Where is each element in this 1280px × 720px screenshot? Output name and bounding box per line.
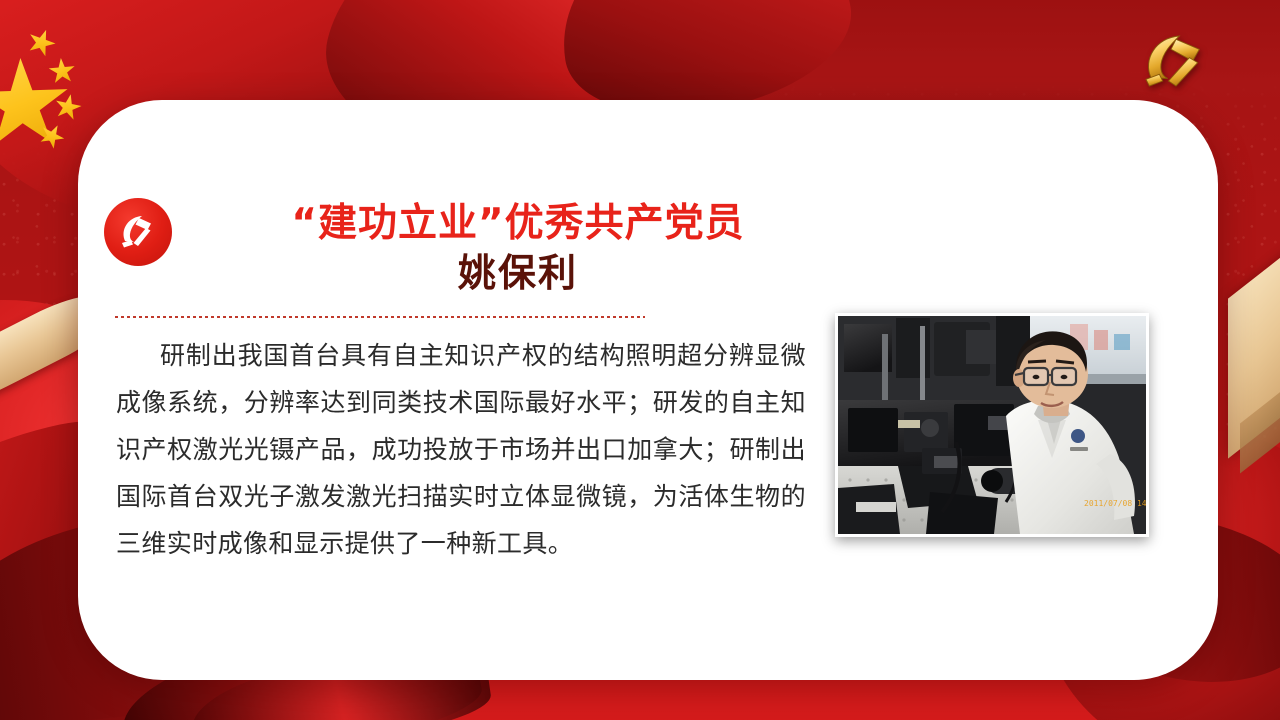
body-paragraph: 研制出我国首台具有自主知识产权的结构照明超分辨显微成像系统，分辨率达到同类技术国… [116, 332, 806, 567]
hammer-sickle-gold-icon [1134, 26, 1218, 96]
svg-text:2011/07/08 14:02: 2011/07/08 14:02 [1084, 499, 1146, 508]
person-name: 姚保利 [198, 250, 838, 298]
hammer-sickle-icon [104, 198, 172, 266]
person-photo: 2011/07/08 14:02 [835, 313, 1149, 537]
content-card: “建功立业”优秀共产党员 姚保利 研制出我国首台具有自主知识产权的结构照明超分辨… [78, 100, 1218, 680]
slide-canvas: “建功立业”优秀共产党员 姚保利 研制出我国首台具有自主知识产权的结构照明超分辨… [0, 0, 1280, 720]
divider [115, 316, 645, 318]
title-block: “建功立业”优秀共产党员 姚保利 [198, 200, 838, 297]
page-title: “建功立业”优秀共产党员 [198, 200, 838, 248]
